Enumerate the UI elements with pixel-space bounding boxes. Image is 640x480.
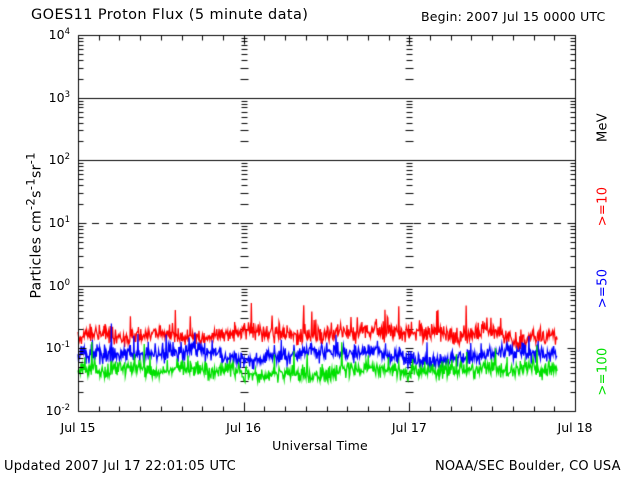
y-axis-tick-label: 104 — [0, 27, 70, 42]
x-axis-tick-label: Jul 18 — [540, 420, 610, 435]
legend-entry: >=50 — [596, 254, 611, 324]
agency-credit: NOAA/SEC Boulder, CO USA — [435, 459, 621, 474]
updated-timestamp: Updated 2007 Jul 17 22:01:05 UTC — [4, 459, 236, 474]
begin-timestamp: Begin: 2007 Jul 15 0000 UTC — [421, 9, 605, 24]
page-title: GOES11 Proton Flux (5 minute data) — [31, 7, 308, 23]
y-axis-tick-label: 101 — [0, 215, 70, 230]
legend-entry: >=100 — [596, 337, 611, 407]
x-axis-tick-label: Jul 17 — [374, 420, 444, 435]
y-axis-tick-label: 10-1 — [0, 340, 70, 355]
y-axis-tick-label: 102 — [0, 152, 70, 167]
x-axis-tick-label: Jul 16 — [209, 420, 279, 435]
y-axis-tick-label: 10-2 — [0, 403, 70, 418]
y-axis-tick-label: 103 — [0, 90, 70, 105]
x-axis-tick-label: Jul 15 — [43, 420, 113, 435]
x-axis-label: Universal Time — [0, 438, 640, 453]
legend-entry: MeV — [596, 93, 611, 163]
proton-flux-plot: GOES11 Proton Flux (5 minute data) Begin… — [0, 0, 640, 480]
chart-canvas — [0, 0, 640, 480]
y-axis-tick-label: 100 — [0, 278, 70, 293]
legend-entry: >=10 — [596, 172, 611, 242]
